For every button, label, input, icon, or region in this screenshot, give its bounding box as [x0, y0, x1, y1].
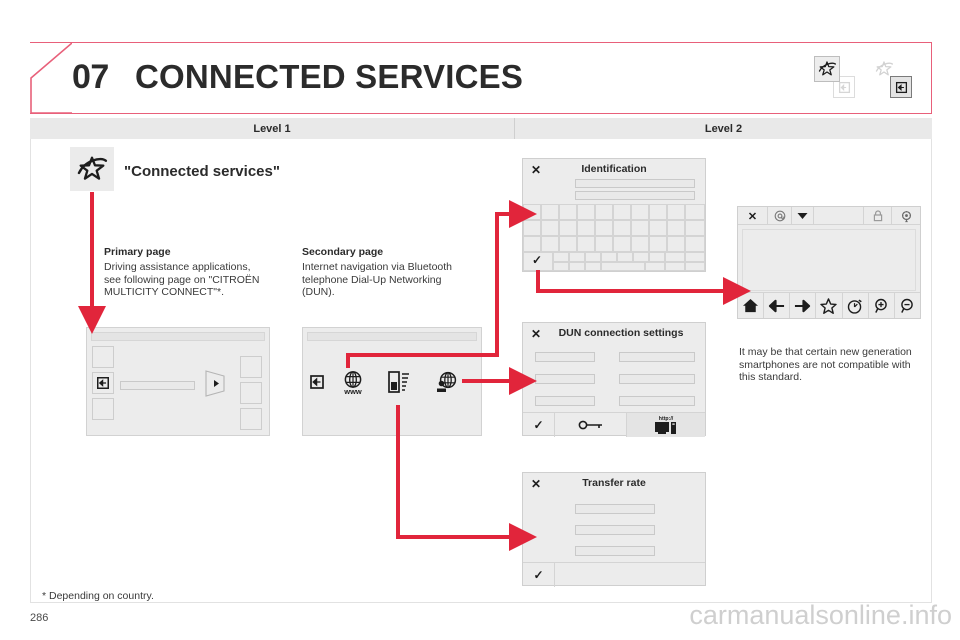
- brand-label: "Connected services": [124, 163, 280, 180]
- browser-zoom-in-button[interactable]: [869, 293, 895, 318]
- screen-title-strip: [307, 332, 477, 341]
- star-swoosh-icon-active-tile[interactable]: [814, 56, 840, 82]
- secondary-page-screen[interactable]: www: [302, 327, 482, 436]
- globe-user-icon[interactable]: [434, 370, 460, 394]
- identification-field-1[interactable]: [575, 179, 695, 188]
- brand-icon-tile: [70, 147, 114, 191]
- dun-field-6[interactable]: [619, 396, 695, 406]
- dun-field-4[interactable]: [619, 374, 695, 384]
- level-bar: Level 1 Level 2: [30, 118, 932, 139]
- dun-field-1[interactable]: [535, 352, 595, 362]
- transfer-rate-field-3[interactable]: [575, 546, 655, 556]
- browser-stopwatch-button[interactable]: [843, 293, 869, 318]
- transfer-rate-panel[interactable]: ✕ Transfer rate ✓: [522, 472, 706, 586]
- dun-key-button[interactable]: [555, 412, 627, 437]
- primary-page-heading: Primary page: [104, 246, 171, 258]
- enter-arrow-icon: [96, 376, 110, 390]
- check-icon: ✓: [533, 568, 543, 582]
- secondary-page-heading: Secondary page: [302, 246, 383, 258]
- page-title: CONNECTED SERVICES: [135, 58, 523, 96]
- screen-button-mr[interactable]: [240, 382, 262, 404]
- browser-lock-button[interactable]: [864, 207, 892, 225]
- star-swoosh-icon: [75, 152, 109, 186]
- back-arrow-icon: [768, 299, 785, 313]
- dropdown-triangle-icon: [797, 212, 808, 220]
- browser-footer-toolbar: [738, 292, 920, 318]
- stopwatch-icon: [847, 298, 863, 314]
- enter-arrow-icon: [838, 81, 851, 94]
- lock-icon: [873, 210, 883, 222]
- browser-toolbar: ✕: [738, 207, 920, 225]
- transfer-rate-confirm-button[interactable]: ✓: [523, 562, 555, 587]
- chapter-number: 07: [72, 58, 109, 97]
- close-x-icon: ✕: [748, 210, 757, 223]
- star-swoosh-icon: [817, 59, 837, 79]
- transfer-rate-field-2[interactable]: [575, 525, 655, 535]
- check-icon: ✓: [533, 418, 543, 432]
- dun-field-5[interactable]: [535, 396, 595, 406]
- screen-button-tr[interactable]: [240, 356, 262, 378]
- enter-arrow-icon: [895, 81, 908, 94]
- dun-settings-panel[interactable]: ✕ DUN connection settings ✓ http://: [522, 322, 706, 436]
- svg-text:http://: http://: [659, 416, 674, 422]
- star-swoosh-icon-inactive-tile[interactable]: [871, 56, 897, 82]
- footnote: * Depending on country.: [42, 590, 154, 602]
- watermark: carmanualsonline.info: [689, 600, 952, 631]
- browser-dropdown-button[interactable]: [792, 207, 814, 225]
- compatibility-note: It may be that certain new generation sm…: [739, 346, 924, 384]
- enter-arrow-button[interactable]: [92, 372, 114, 394]
- phone-signal-icon[interactable]: [387, 370, 411, 394]
- page-number: 286: [30, 612, 48, 624]
- star-swoosh-icon: [874, 59, 894, 79]
- at-globe-icon: [774, 210, 786, 222]
- star-favourite-icon: [820, 298, 837, 314]
- browser-back-button[interactable]: [764, 293, 790, 318]
- zoom-in-icon: [873, 298, 889, 314]
- dun-field-2[interactable]: [619, 352, 695, 362]
- zoom-out-icon: [899, 298, 915, 314]
- browser-home-button[interactable]: [738, 293, 764, 318]
- svg-text:www: www: [343, 387, 362, 395]
- enter-arrow-icon[interactable]: [309, 374, 325, 390]
- primary-page-body: Driving assistance applications, see fol…: [104, 261, 269, 299]
- screen-button-tl[interactable]: [92, 346, 114, 368]
- screen-text-field[interactable]: [120, 381, 195, 390]
- forward-arrow-icon: [794, 299, 811, 313]
- transfer-rate-field-1[interactable]: [575, 504, 655, 514]
- home-icon: [742, 298, 759, 313]
- primary-page-screen[interactable]: [86, 327, 270, 436]
- transfer-rate-footer-blank: [555, 562, 705, 587]
- level1-header: Level 1: [30, 118, 514, 139]
- screen-title-strip: [91, 332, 265, 341]
- play-arrow-icon[interactable]: [205, 370, 227, 397]
- identification-titlebar: ✕ Identification: [523, 159, 705, 181]
- browser-address-bar[interactable]: [814, 207, 864, 225]
- dun-titlebar: ✕ DUN connection settings: [523, 323, 705, 345]
- browser-at-globe-button[interactable]: [768, 207, 792, 225]
- dun-confirm-button[interactable]: ✓: [523, 412, 555, 437]
- secondary-page-body: Internet navigation via Bluetooth teleph…: [302, 261, 477, 299]
- screen-button-bl[interactable]: [92, 398, 114, 420]
- www-globe-icon[interactable]: www: [340, 369, 366, 395]
- chapter-header-corner: [30, 42, 72, 114]
- check-icon[interactable]: ✓: [532, 253, 542, 267]
- identification-field-2[interactable]: [575, 191, 695, 200]
- transfer-rate-title: Transfer rate: [523, 477, 705, 489]
- http-computer-icon: http://: [653, 414, 679, 436]
- browser-close-button[interactable]: ✕: [738, 207, 768, 225]
- browser-forward-button[interactable]: [790, 293, 816, 318]
- settings-gear-icon: [900, 210, 913, 223]
- identification-title: Identification: [523, 163, 705, 175]
- internet-browser-screen[interactable]: ✕: [737, 206, 921, 319]
- browser-zoom-out-button[interactable]: [895, 293, 920, 318]
- browser-favourite-button[interactable]: [816, 293, 842, 318]
- dun-title: DUN connection settings: [537, 327, 705, 339]
- browser-content-area: [742, 229, 916, 291]
- dun-http-button[interactable]: http://: [627, 412, 705, 437]
- key-icon: [578, 419, 604, 431]
- level2-header: Level 2: [514, 118, 932, 139]
- browser-settings-button[interactable]: [892, 207, 920, 225]
- identification-panel[interactable]: ✕ Identification: [522, 158, 706, 272]
- transfer-rate-titlebar: ✕ Transfer rate: [523, 473, 705, 495]
- screen-button-br[interactable]: [240, 408, 262, 430]
- dun-field-3[interactable]: [535, 374, 595, 384]
